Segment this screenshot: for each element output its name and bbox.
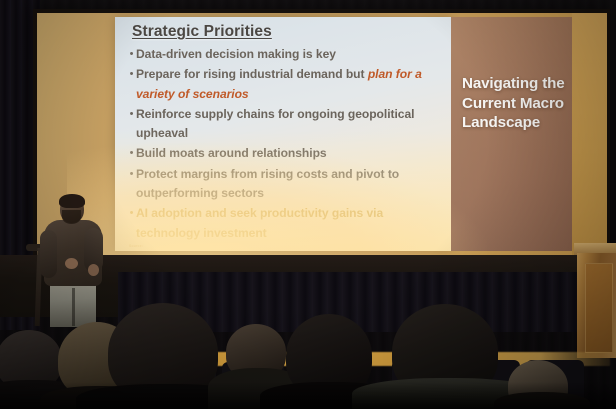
list-item: • Protect margins from rising costs and … <box>127 165 439 204</box>
projection-screen: Strategic Priorities • Data-driven decis… <box>37 13 607 255</box>
presenter-left-hand <box>65 258 78 269</box>
photo-stage: Strategic Priorities • Data-driven decis… <box>0 0 616 409</box>
bullet-marker: • <box>127 204 136 223</box>
bullet-text: AI adoption and seek productivity gains … <box>136 204 439 243</box>
foreground-shadow <box>0 382 616 409</box>
bullet-text: Data-driven decision making is key <box>136 45 336 64</box>
audience <box>0 300 616 409</box>
title-panel-sheen <box>451 17 572 251</box>
presenter-beard <box>62 210 81 224</box>
list-item: • Build moats around relationships <box>127 144 439 163</box>
screen-amber-band <box>572 13 607 255</box>
slide-source-note: Source: <box>129 244 143 248</box>
presenter-hair <box>59 194 85 208</box>
bullet-marker: • <box>127 65 136 84</box>
slide-heading: Strategic Priorities <box>132 23 272 41</box>
bullet-marker: • <box>127 165 136 184</box>
bullet-text: Reinforce supply chains for ongoing geop… <box>136 105 439 144</box>
bullet-marker: • <box>127 105 136 124</box>
list-item: • Data-driven decision making is key <box>127 45 439 64</box>
list-item: • AI adoption and seek productivity gain… <box>127 204 439 243</box>
bullet-marker: • <box>127 144 136 163</box>
deck-title: Navigating the Current Macro Landscape <box>462 74 570 133</box>
list-item: • Prepare for rising industrial demand b… <box>127 65 439 104</box>
slide-bullet-list: • Data-driven decision making is key • P… <box>127 45 439 244</box>
bullet-marker: • <box>127 45 136 64</box>
slide-content-panel: Strategic Priorities • Data-driven decis… <box>115 17 451 251</box>
list-item: • Reinforce supply chains for ongoing ge… <box>127 105 439 144</box>
presenter-right-hand <box>88 264 99 276</box>
bullet-text: Prepare for rising industrial demand but… <box>136 65 439 104</box>
presenter-left-arm <box>40 230 57 278</box>
bullet-text: Protect margins from rising costs and pi… <box>136 165 439 204</box>
bullet-text: Build moats around relationships <box>136 144 327 163</box>
slide-title-panel: Navigating the Current Macro Landscape <box>451 17 572 251</box>
bullet-text-plain: Prepare for rising industrial demand but <box>136 67 368 81</box>
